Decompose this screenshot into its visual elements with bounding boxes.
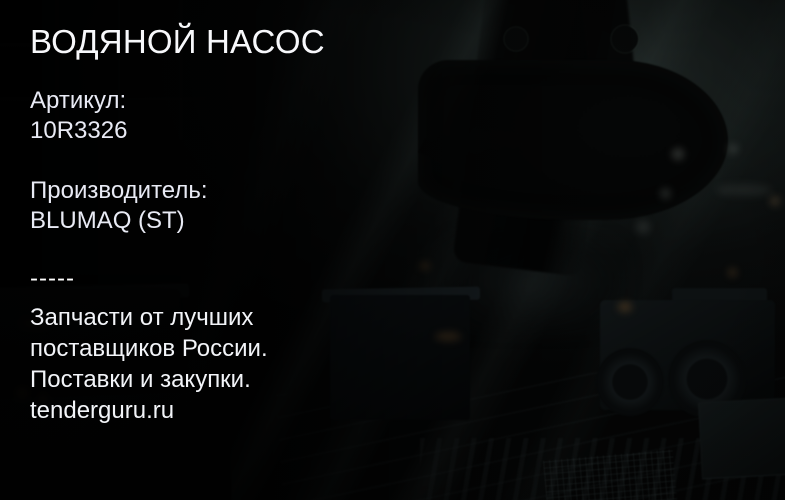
manufacturer-label: Производитель: bbox=[30, 176, 208, 206]
boom-pin-icon bbox=[505, 28, 527, 50]
bokeh-light-icon bbox=[16, 388, 28, 398]
boom-pin-icon bbox=[608, 86, 628, 106]
background-crate bbox=[698, 398, 785, 480]
bokeh-light-icon bbox=[728, 268, 737, 277]
bokeh-light-icon bbox=[728, 144, 738, 154]
bokeh-light-icon bbox=[770, 196, 780, 206]
bokeh-light-icon bbox=[660, 188, 671, 199]
promo-site-url: tenderguru.ru bbox=[30, 395, 268, 426]
boom-pin-icon bbox=[612, 26, 638, 52]
product-info-panel: ВОДЯНОЙ НАСОС Артикул: 10R3326 Производи… bbox=[30, 0, 500, 500]
bokeh-light-icon bbox=[636, 220, 650, 234]
article-value: 10R3326 bbox=[30, 116, 127, 146]
bokeh-light-icon bbox=[618, 302, 632, 312]
product-banner: ВОДЯНОЙ НАСОС Артикул: 10R3326 Производи… bbox=[0, 0, 785, 500]
article-label: Артикул: bbox=[30, 86, 127, 116]
product-title: ВОДЯНОЙ НАСОС bbox=[30, 22, 325, 62]
tractor-wheel-icon bbox=[596, 348, 664, 416]
bokeh-light-icon bbox=[716, 184, 772, 196]
promo-text: Запчасти от лучших поставщиков России. П… bbox=[30, 302, 268, 426]
boom-pin-icon bbox=[645, 78, 669, 102]
background-mesh-grate bbox=[543, 449, 677, 500]
promo-line-3: Поставки и закупки. bbox=[30, 364, 268, 395]
manufacturer-value: BLUMAQ (ST) bbox=[30, 206, 208, 236]
promo-line-2: поставщиков России. bbox=[30, 333, 268, 364]
article-field: Артикул: 10R3326 bbox=[30, 86, 127, 146]
bokeh-light-icon bbox=[672, 148, 684, 160]
section-divider: ----- bbox=[30, 266, 75, 292]
manufacturer-field: Производитель: BLUMAQ (ST) bbox=[30, 176, 208, 236]
promo-line-1: Запчасти от лучших bbox=[30, 302, 268, 333]
